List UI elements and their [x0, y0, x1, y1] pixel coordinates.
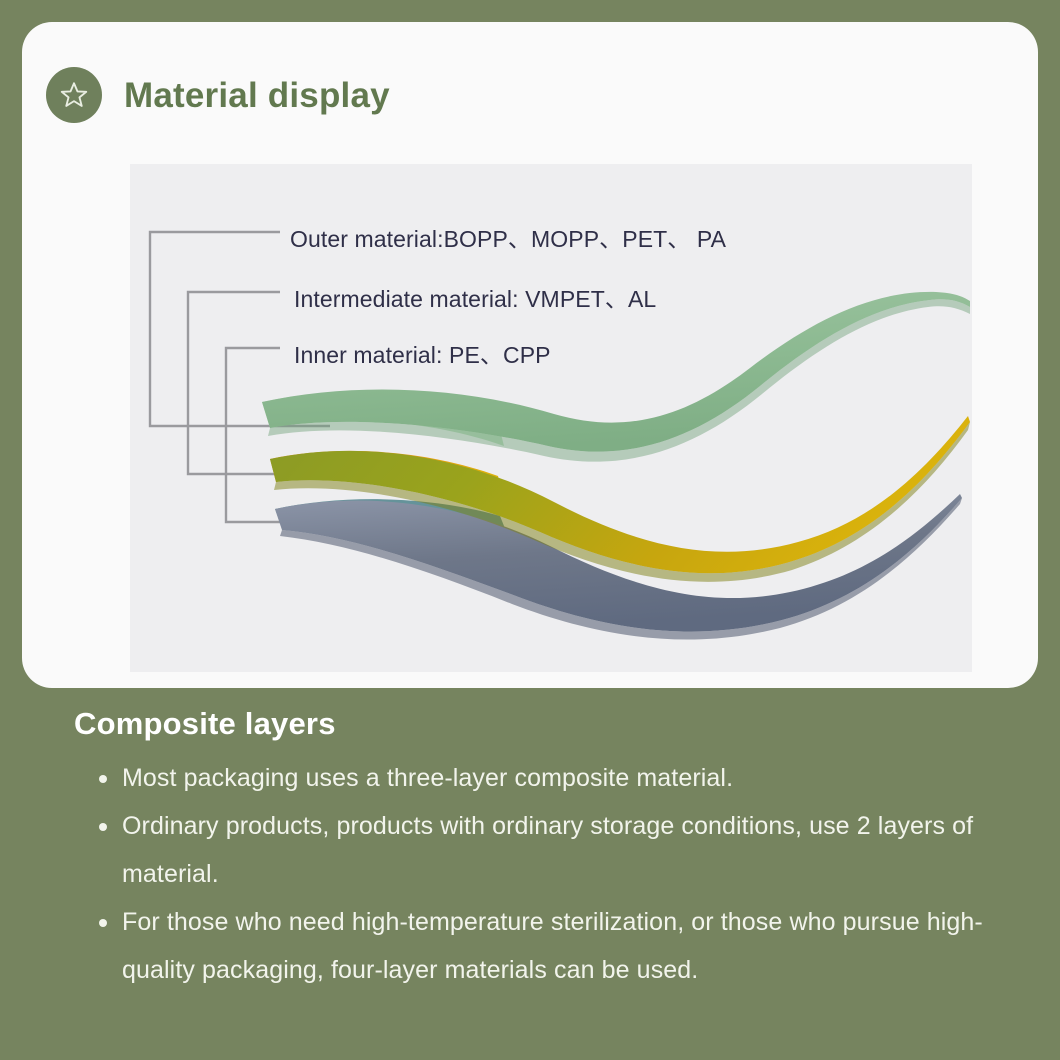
card-header: Material display [46, 67, 390, 123]
bracket-intermediate [188, 292, 330, 474]
label-intermediate-material: Intermediate material: VMPET、AL [294, 280, 656, 314]
list-item: For those who need high-temperature ster… [74, 898, 1000, 994]
material-display-card: Material display [22, 22, 1038, 688]
star-icon [46, 67, 102, 123]
page-title: Material display [124, 78, 390, 113]
label-inner-material: Inner material: PE、CPP [294, 336, 551, 370]
bracket-inner [226, 348, 330, 522]
composite-layers-heading: Composite layers [74, 706, 1000, 742]
list-item: Ordinary products, products with ordinar… [74, 802, 1000, 898]
material-illustration-panel: Outer material:BOPP、MOPP、PET、 PA Interme… [130, 164, 972, 672]
composite-layers-list: Most packaging uses a three-layer compos… [74, 754, 1000, 994]
composite-layers-section: Composite layers Most packaging uses a t… [0, 706, 1060, 1060]
list-item: Most packaging uses a three-layer compos… [74, 754, 1000, 802]
outer-sheet [262, 292, 970, 462]
label-outer-material: Outer material:BOPP、MOPP、PET、 PA [290, 220, 726, 254]
